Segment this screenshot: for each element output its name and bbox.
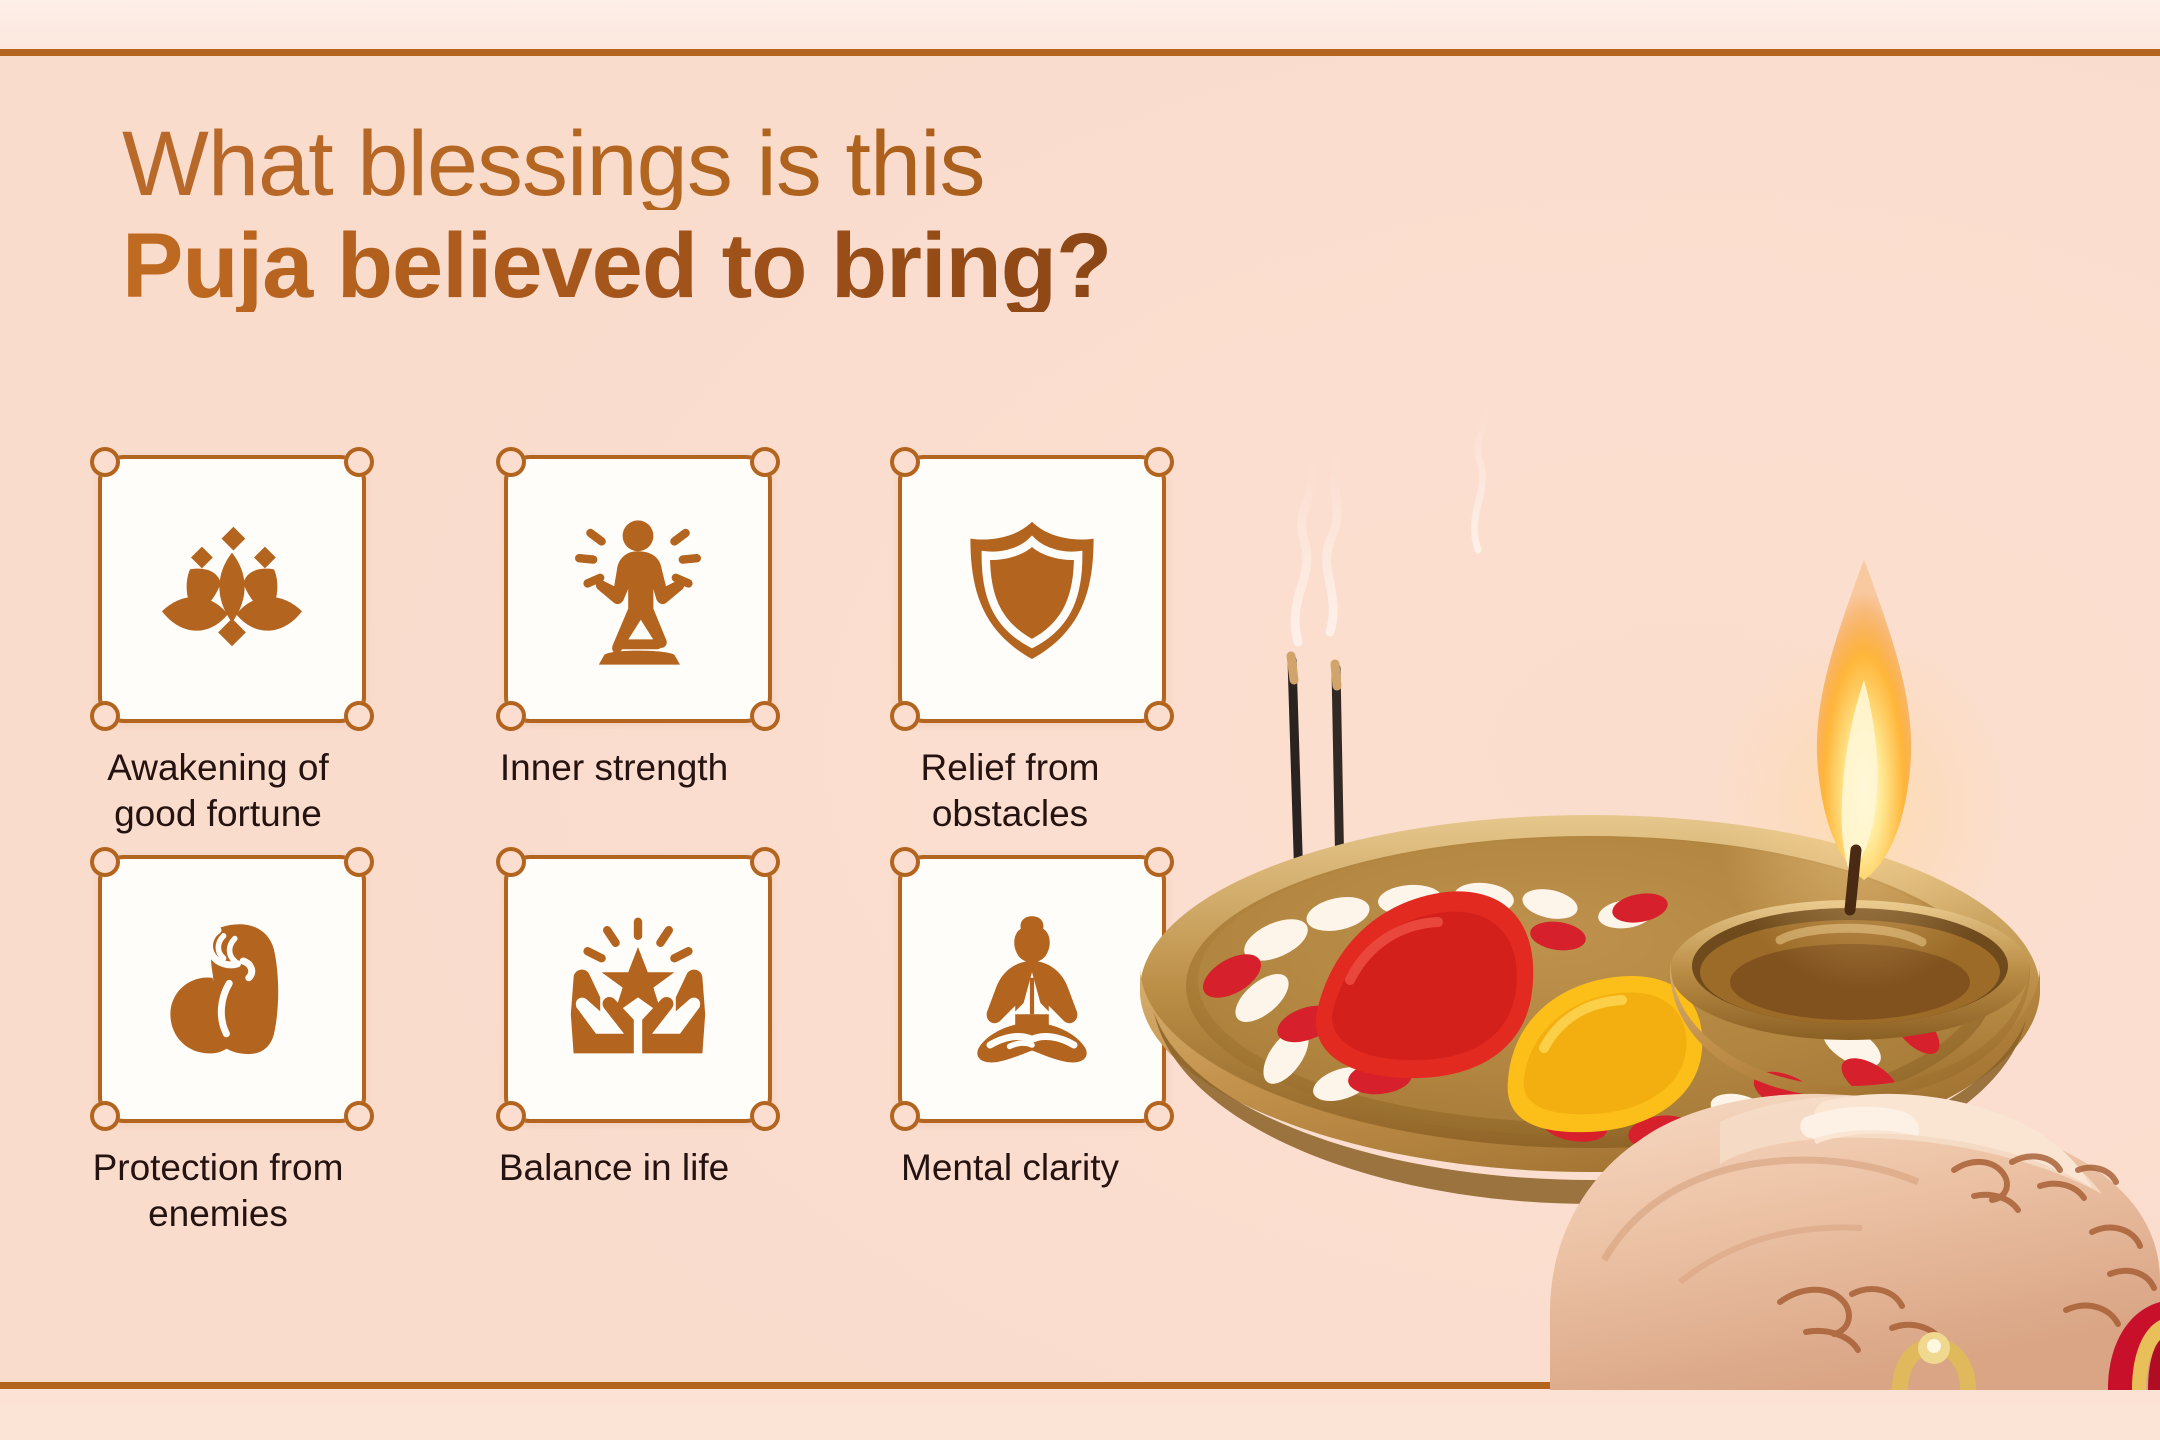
standing-person-icon — [554, 505, 722, 673]
corner-notch — [90, 847, 120, 877]
infographic-canvas: What blessings is this Puja believed to … — [0, 0, 2160, 1440]
icon-card — [98, 455, 366, 723]
corner-notch — [496, 701, 526, 731]
corner-notch — [750, 447, 780, 477]
corner-notch — [344, 447, 374, 477]
corner-notch — [496, 847, 526, 877]
headline-block: What blessings is this Puja believed to … — [122, 118, 1422, 312]
corner-notch — [890, 447, 920, 477]
corner-notch — [90, 447, 120, 477]
incense-smoke — [1295, 404, 1485, 642]
blessing-item-inner-strength[interactable]: Inner strength — [416, 455, 812, 837]
top-divider-rule — [0, 49, 2160, 56]
puja-thali-photo — [1080, 380, 2160, 1390]
corner-notch — [344, 701, 374, 731]
blessings-row-1: Awakening of good fortune — [20, 455, 1210, 837]
icon-card — [504, 855, 772, 1123]
icon-card — [504, 455, 772, 723]
flexed-bicep-icon — [148, 905, 316, 1073]
blessings-row-2: Protection from enemies — [20, 855, 1210, 1237]
hands-holding-star-icon — [554, 905, 722, 1073]
corner-notch — [750, 1101, 780, 1131]
corner-notch — [496, 1101, 526, 1131]
blessing-label: Inner strength — [416, 745, 812, 791]
lotus-flower-icon — [148, 505, 316, 673]
blessings-grid: Awakening of good fortune — [20, 455, 1210, 1237]
diya-flame — [1714, 560, 2014, 990]
blessing-item-awakening[interactable]: Awakening of good fortune — [20, 455, 416, 837]
corner-notch — [890, 847, 920, 877]
corner-notch — [750, 847, 780, 877]
headline-line-1: What blessings is this — [122, 118, 1422, 210]
corner-notch — [890, 701, 920, 731]
corner-notch — [344, 1101, 374, 1131]
corner-notch — [496, 447, 526, 477]
corner-notch — [90, 701, 120, 731]
corner-notch — [90, 1101, 120, 1131]
blessing-label: Balance in life — [416, 1145, 812, 1191]
bottom-margin-band — [0, 1389, 2160, 1440]
headline-line-2: Puja believed to bring? — [122, 220, 1422, 312]
top-margin-band — [0, 0, 2160, 49]
icon-card — [98, 855, 366, 1123]
blessing-label: Awakening of good fortune — [20, 745, 416, 837]
corner-notch — [750, 701, 780, 731]
blessing-item-protection[interactable]: Protection from enemies — [20, 855, 416, 1237]
corner-notch — [344, 847, 374, 877]
corner-notch — [890, 1101, 920, 1131]
puja-thali-illustration — [1080, 380, 2160, 1390]
blessing-item-balance[interactable]: Balance in life — [416, 855, 812, 1237]
blessing-label: Protection from enemies — [20, 1145, 416, 1237]
